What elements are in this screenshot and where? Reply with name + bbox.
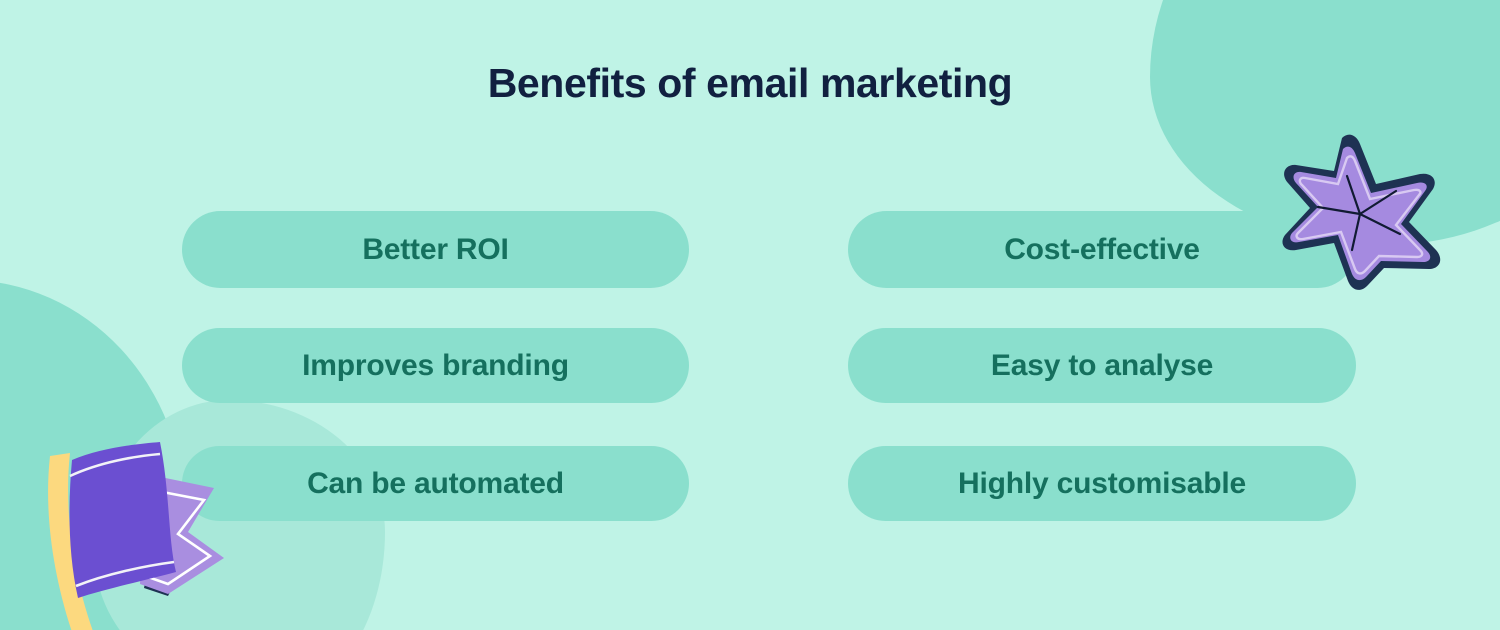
benefit-pill-better-roi: Better ROI — [182, 211, 689, 288]
benefit-pill-label: Highly customisable — [958, 467, 1246, 501]
benefit-pill-label: Better ROI — [362, 233, 508, 267]
benefit-pill-easy-to-analyse: Easy to analyse — [848, 328, 1356, 403]
benefit-pill-label: Improves branding — [302, 349, 569, 383]
benefit-pill-label: Easy to analyse — [991, 349, 1213, 383]
benefit-pill-improves-branding: Improves branding — [182, 328, 689, 403]
page-title: Benefits of email marketing — [0, 60, 1500, 107]
flag-icon — [28, 438, 273, 630]
benefit-pill-highly-customisable: Highly customisable — [848, 446, 1356, 521]
infographic-canvas: Benefits of email marketing Better ROI I… — [0, 0, 1500, 630]
benefit-pill-label: Cost-effective — [1004, 233, 1200, 267]
benefit-pill-label: Can be automated — [307, 467, 564, 501]
starfish-icon — [1276, 128, 1444, 296]
